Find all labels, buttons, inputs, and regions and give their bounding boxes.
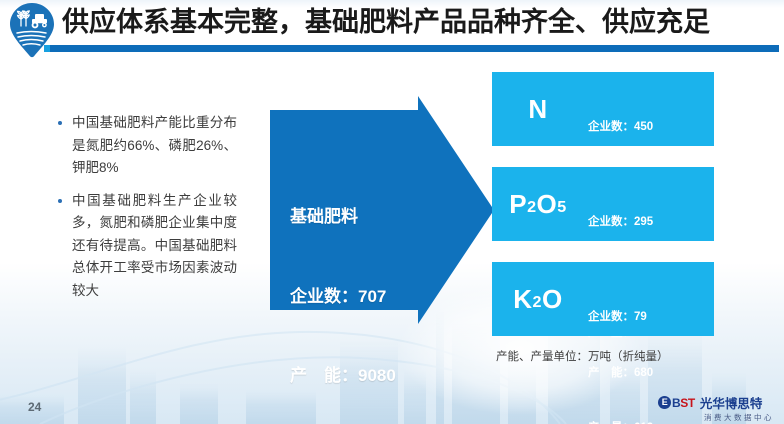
list-item: 中国基础肥料生产企业较多，氮肥和磷肥企业集中度还有待提高。中国基础肥料总体开工率… [52, 190, 237, 303]
brand-badge-e: E [658, 396, 671, 409]
units-footnote: 产能、产量单位：万吨（折纯量） [496, 348, 669, 364]
list-item: 中国基础肥料产能比重分布是氮肥约66%、磷肥26%、钾肥8% [52, 112, 237, 180]
symbol-sub1: 2 [527, 198, 536, 217]
brand-logo: EBST 光华博思特 消费大数据中心 [658, 394, 776, 422]
nutrient-symbol-p2o5: P2O5 [492, 167, 584, 241]
symbol-base: P [509, 189, 527, 220]
stat-output: 产 量：612 [588, 419, 653, 424]
nutrient-card-n: N 企业数：450 产 能：6050 产 量：4944 [492, 72, 714, 146]
nutrient-symbol-k2o: K2O [492, 262, 584, 336]
brand-name-row: EBST 光华博思特 [658, 394, 776, 411]
nutrient-card-p2o5: P2O5 企业数：295 产 能：2350 产 量：2026 [492, 167, 714, 241]
slide-header: 供应体系基本完整，基础肥料产品品种齐全、供应充足 [0, 0, 784, 52]
stat-enterprises: 企业数：450 [588, 118, 660, 137]
stat-enterprises: 企业数：295 [588, 213, 660, 232]
bullet-text: 中国基础肥料生产企业较多，氮肥和磷肥企业集中度还有待提高。中国基础肥料总体开工率… [72, 193, 237, 298]
symbol-mid: O [542, 284, 563, 315]
nutrient-card-k2o: K2O 企业数：79 产 能：680 产 量：612 [492, 262, 714, 336]
bullet-dot-icon [58, 199, 62, 203]
arrow-line-enterprises: 企业数：707 [290, 284, 396, 311]
brand-badge-b: B [672, 396, 680, 410]
stat-capacity: 产 能：680 [588, 364, 653, 383]
stat-enterprises: 企业数：79 [588, 308, 653, 327]
symbol-mid: O [537, 189, 558, 220]
title-underline-cap [44, 45, 50, 52]
brand-badge-st: ST [680, 396, 695, 410]
arrow-label-block: 基础肥料 企业数：707 产 能：9080 产 量：7627 [290, 151, 396, 424]
brand-tagline: 消费大数据中心 [658, 412, 776, 423]
symbol-sub1: 2 [533, 293, 542, 312]
page-title: 供应体系基本完整，基础肥料产品品种齐全、供应充足 [62, 3, 777, 41]
symbol-base: K [513, 284, 532, 315]
title-underline [44, 45, 779, 52]
nutrient-symbol-n: N [492, 72, 584, 146]
brand-name-cn: 光华博思特 [700, 393, 763, 412]
slide-canvas: 供应体系基本完整，基础肥料产品品种齐全、供应充足 中国基础肥料产能比重分布是氮肥… [0, 0, 784, 424]
arrow-title: 基础肥料 [290, 204, 396, 231]
bullet-list: 中国基础肥料产能比重分布是氮肥约66%、磷肥26%、钾肥8% 中国基础肥料生产企… [52, 112, 237, 312]
symbol-base: N [528, 94, 547, 125]
symbol-sub2: 5 [557, 198, 566, 217]
bullet-dot-icon [58, 121, 62, 125]
arrow-line-capacity: 产 能：9080 [290, 363, 396, 390]
page-number: 24 [28, 400, 41, 414]
bullet-text: 中国基础肥料产能比重分布是氮肥约66%、磷肥26%、钾肥8% [72, 115, 237, 175]
brand-badge: EBST [658, 396, 695, 410]
